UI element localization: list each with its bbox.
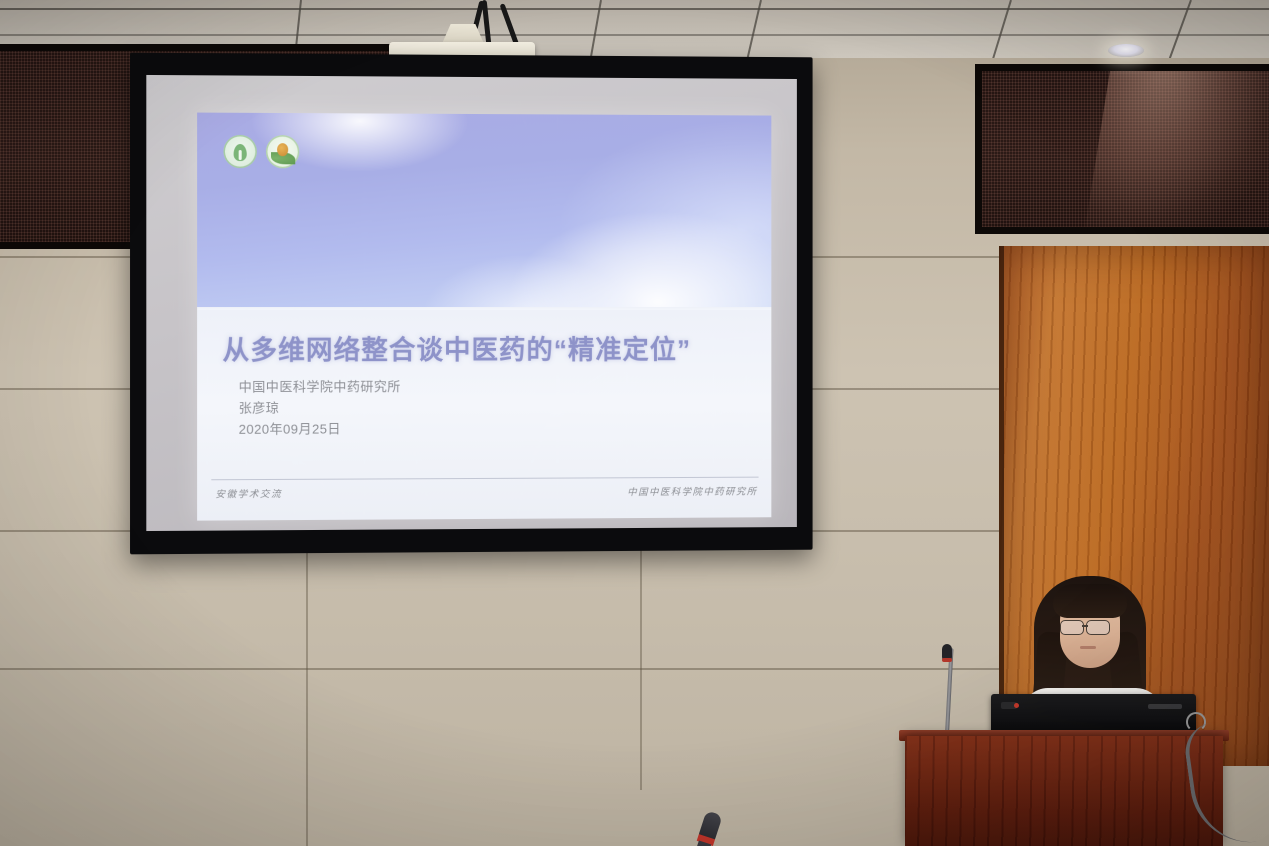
slide-subtitle-line: 中国中医科学院中药研究所 (239, 376, 659, 398)
logo-herb-emblem-icon (266, 135, 299, 168)
slide-footer-right: 中国中医科学院中药研究所 (627, 484, 757, 499)
slide-subtitle-line: 2020年09月25日 (239, 417, 659, 439)
projected-slide: 从多维网络整合谈中医药的“精准定位” 中国中医科学院中药研究所 张彦琼 2020… (197, 113, 771, 521)
perforated-acoustic-panel-right (975, 64, 1269, 234)
wood-panel-edge (999, 246, 1004, 766)
microphone-red-band (942, 658, 952, 662)
slide-footer-left: 安徽学术交流 (215, 486, 282, 500)
presenter-fringe (1053, 584, 1127, 618)
projection-screen-surface: 从多维网络整合谈中医药的“精准定位” 中国中医科学院中药研究所 张彦琼 2020… (146, 75, 797, 531)
laptop-brand-mark (1148, 704, 1182, 709)
presenter-glasses-bridge (1082, 625, 1088, 627)
slide-subtitle-block: 中国中医科学院中药研究所 张彦琼 2020年09月25日 (239, 376, 659, 440)
speaker-podium (905, 736, 1223, 846)
slide-logos (223, 135, 299, 169)
presenter-glasses-right (1086, 620, 1110, 635)
slide-title: 从多维网络整合谈中医药的“精准定位” (222, 328, 751, 368)
projection-screen-frame: 从多维网络整合谈中医药的“精准定位” 中国中医科学院中药研究所 张彦琼 2020… (130, 53, 813, 555)
laptop-logo-dot-icon (1014, 703, 1019, 708)
presenter-mouth (1080, 646, 1096, 649)
logo-institute-seal-icon (223, 135, 256, 168)
light-cone (1084, 64, 1269, 233)
presenter-glasses-left (1060, 620, 1084, 635)
recessed-downlight (1108, 44, 1144, 57)
slide-subtitle-line: 张彦琼 (239, 397, 659, 419)
conference-room-photo: 从多维网络整合谈中医药的“精准定位” 中国中医科学院中药研究所 张彦琼 2020… (0, 0, 1269, 846)
